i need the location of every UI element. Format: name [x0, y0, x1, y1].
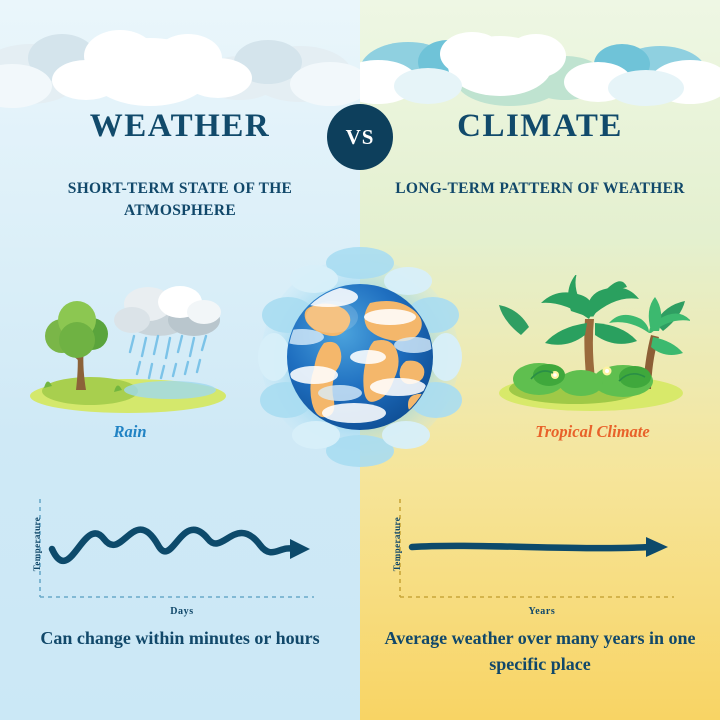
tropical-palm-island-icon	[495, 275, 690, 415]
climate-subtitle: LONG-TERM PATTERN OF WEATHER	[375, 178, 705, 200]
climate-graph-svg	[382, 493, 692, 613]
weather-cloud-band	[0, 0, 360, 115]
climate-graph-panel: Temperature Years Average weather over m…	[360, 480, 720, 720]
climate-temperature-graph: Temperature Years	[382, 493, 692, 613]
climate-y-axis-label: Temperature	[392, 495, 404, 593]
weather-temperature-graph: Temperature Days	[22, 493, 332, 613]
weather-y-axis-label: Temperature	[32, 495, 44, 593]
climate-footer-text: Average weather over many years in one s…	[360, 626, 720, 677]
earth-globe-icon	[258, 245, 463, 470]
weather-footer-text: Can change within minutes or hours	[0, 626, 360, 652]
vs-badge: VS	[327, 104, 393, 170]
cloud-group-right-icon	[360, 0, 720, 115]
weather-subtitle: SHORT-TERM STATE OF THE ATMOSPHERE	[15, 178, 345, 223]
rain-cloud-over-tree-icon	[28, 278, 233, 413]
weather-x-axis-label: Days	[82, 606, 282, 617]
climate-cloud-band	[360, 0, 720, 115]
weather-graph-panel: Temperature Days Can change within minut…	[0, 480, 360, 720]
tropical-climate-caption: Tropical Climate	[490, 422, 695, 442]
climate-title: CLIMATE	[360, 108, 720, 145]
weather-vs-climate-infographic: WEATHER CLIMATE SHORT-TERM STATE OF THE …	[0, 0, 720, 720]
weather-title: WEATHER	[0, 108, 360, 145]
weather-graph-svg	[22, 493, 332, 613]
rain-caption: Rain	[60, 422, 200, 442]
climate-x-axis-label: Years	[442, 606, 642, 617]
cloud-group-left-icon	[0, 0, 360, 115]
